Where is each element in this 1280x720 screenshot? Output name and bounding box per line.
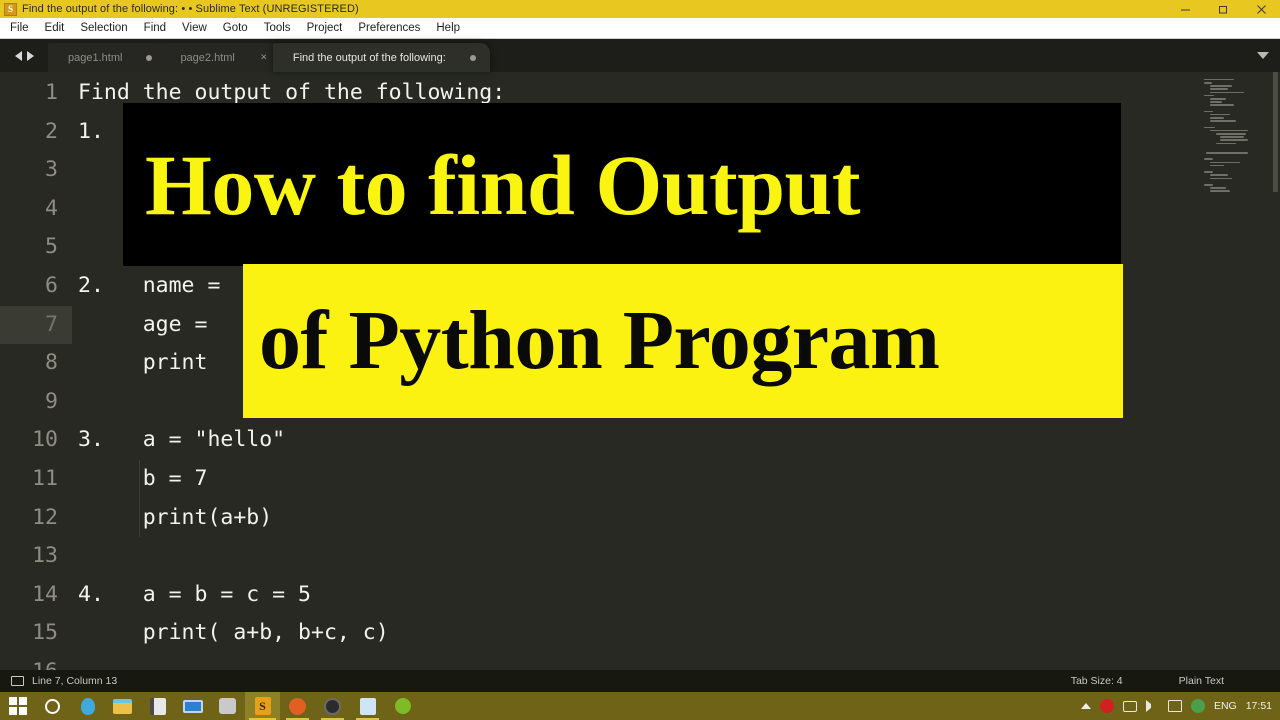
notepad-icon	[360, 698, 376, 715]
arrow-left-icon[interactable]	[15, 51, 22, 61]
code-line[interactable]: 13	[0, 537, 1280, 576]
menu-item-file[interactable]: File	[2, 22, 37, 34]
firefox-icon	[289, 698, 306, 715]
overlay-banner-top: How to find Output	[123, 103, 1121, 266]
line-content: print(a+b)	[78, 499, 272, 538]
line-number: 1	[0, 74, 62, 113]
tab-find-the-output[interactable]: Find the output of the following:	[273, 43, 490, 72]
sublime-text-icon: S	[255, 697, 271, 715]
network-icon[interactable]	[1123, 701, 1137, 712]
paint-app-button[interactable]	[210, 692, 245, 720]
window-controls	[1166, 0, 1280, 18]
system-tray: ENG 17:51	[1081, 699, 1280, 713]
cursor-position-label[interactable]: Line 7, Column 13	[32, 675, 117, 687]
paint-icon	[219, 698, 236, 714]
line-content: 4. a = b = c = 5	[78, 576, 311, 615]
menu-item-view[interactable]: View	[174, 22, 215, 34]
modified-dot-icon[interactable]	[146, 55, 152, 61]
tab-size-label[interactable]: Tab Size: 4	[1071, 675, 1123, 687]
cortana-search-button[interactable]	[35, 692, 70, 720]
menu-item-project[interactable]: Project	[299, 22, 351, 34]
folder-icon	[113, 699, 132, 714]
line-content: 1.	[78, 113, 104, 152]
tab-label: Find the output of the following:	[293, 52, 446, 64]
line-number: 5	[0, 228, 62, 267]
line-number: 15	[0, 614, 62, 653]
window-title: Find the output of the following: • • Su…	[22, 3, 359, 15]
action-center-icon[interactable]	[1168, 700, 1182, 712]
nvidia-taskbar-button[interactable]	[385, 692, 420, 720]
line-number: 4	[0, 190, 62, 229]
tab-page1-html[interactable]: page1.html	[48, 43, 166, 72]
maximize-button[interactable]	[1204, 0, 1242, 18]
overlay-banner-bottom: of Python Program	[243, 264, 1123, 418]
start-button[interactable]	[0, 692, 35, 720]
menu-item-help[interactable]: Help	[428, 22, 468, 34]
firefox-taskbar-button[interactable]	[280, 692, 315, 720]
nvidia-icon	[395, 698, 411, 714]
sublime-text-icon: S	[4, 3, 17, 16]
tab-page2-html[interactable]: page2.html ×	[160, 43, 278, 72]
line-number: 8	[0, 344, 62, 383]
menu-item-edit[interactable]: Edit	[37, 22, 73, 34]
code-minimap[interactable]	[1198, 72, 1280, 670]
media-app-button[interactable]	[175, 692, 210, 720]
code-line[interactable]: 16	[0, 653, 1280, 670]
tab-bar: page1.html page2.html × Find the output …	[0, 39, 1280, 72]
line-content: 3. a = "hello"	[78, 421, 285, 460]
line-number: 13	[0, 537, 62, 576]
line-number: 11	[0, 460, 62, 499]
chevron-up-icon[interactable]	[1081, 703, 1091, 709]
line-content: print( a+b, b+c, c)	[78, 614, 389, 653]
line-number: 16	[0, 653, 62, 670]
line-number: 9	[0, 383, 62, 422]
circle-icon	[45, 699, 60, 714]
task-view-button[interactable]	[70, 692, 105, 720]
minimap-scrollbar[interactable]	[1273, 72, 1278, 192]
overlay-title-line2: of Python Program	[259, 299, 940, 383]
overlay-title-line1: How to find Output	[145, 142, 860, 228]
line-number: 2	[0, 113, 62, 152]
line-number: 12	[0, 499, 62, 538]
code-line[interactable]: 11 b = 7	[0, 460, 1280, 499]
menu-item-find[interactable]: Find	[136, 22, 174, 34]
code-line[interactable]: 12 print(a+b)	[0, 499, 1280, 538]
desktop-screen: S Find the output of the following: • • …	[0, 0, 1280, 720]
syntax-label[interactable]: Plain Text	[1179, 675, 1224, 687]
menu-bar: File Edit Selection Find View Goto Tools…	[0, 18, 1280, 39]
monitor-icon	[11, 676, 24, 686]
language-indicator[interactable]: ENG	[1214, 700, 1237, 712]
file-explorer-button[interactable]	[105, 692, 140, 720]
modified-dot-icon[interactable]	[470, 55, 476, 61]
code-line[interactable]: 10 3. a = "hello"	[0, 421, 1280, 460]
arrow-right-icon[interactable]	[27, 51, 34, 61]
line-number: 6	[0, 267, 62, 306]
clock[interactable]: 17:51	[1246, 700, 1272, 712]
volume-icon[interactable]	[1146, 700, 1159, 712]
close-icon[interactable]: ×	[260, 52, 266, 63]
status-bar-right: Tab Size: 4 Plain Text	[1071, 675, 1280, 687]
task-view-icon	[81, 698, 95, 715]
tab-overflow-menu-button[interactable]	[1246, 39, 1280, 72]
chrome-tray-icon[interactable]	[1191, 699, 1205, 713]
notepad-taskbar-button[interactable]	[350, 692, 385, 720]
security-icon[interactable]	[1100, 699, 1114, 713]
store-app-button[interactable]	[140, 692, 175, 720]
code-line[interactable]: 15 print( a+b, b+c, c)	[0, 614, 1280, 653]
tab-nav-arrows	[0, 39, 48, 72]
line-number: 14	[0, 576, 62, 615]
menu-item-preferences[interactable]: Preferences	[350, 22, 428, 34]
status-bar: Line 7, Column 13 Tab Size: 4 Plain Text	[0, 670, 1280, 692]
windows-taskbar: S ENG 17:51	[0, 692, 1280, 720]
line-number: 3	[0, 151, 62, 190]
sublime-text-taskbar-button[interactable]: S	[245, 692, 280, 720]
line-number: 7	[0, 306, 62, 345]
minimap-line	[1204, 190, 1272, 193]
menu-item-selection[interactable]: Selection	[72, 22, 135, 34]
close-button[interactable]	[1242, 0, 1280, 18]
menu-item-tools[interactable]: Tools	[256, 22, 299, 34]
line-number: 10	[0, 421, 62, 460]
menu-item-goto[interactable]: Goto	[215, 22, 256, 34]
chrome-taskbar-button[interactable]	[315, 692, 350, 720]
tab-label: page2.html	[180, 52, 234, 64]
line-content: print	[78, 344, 207, 383]
media-icon	[183, 700, 203, 713]
window-titlebar: S Find the output of the following: • • …	[0, 0, 1280, 18]
windows-logo-icon	[9, 697, 27, 715]
store-icon	[150, 698, 166, 715]
tab-label: page1.html	[68, 52, 122, 64]
line-content: age =	[78, 306, 207, 345]
line-content: 2. name =	[78, 267, 220, 306]
chrome-icon	[324, 698, 341, 715]
code-line[interactable]: 14 4. a = b = c = 5	[0, 576, 1280, 615]
line-content: b = 7	[78, 460, 207, 499]
minimize-button[interactable]	[1166, 0, 1204, 18]
chevron-down-icon	[1257, 52, 1269, 59]
